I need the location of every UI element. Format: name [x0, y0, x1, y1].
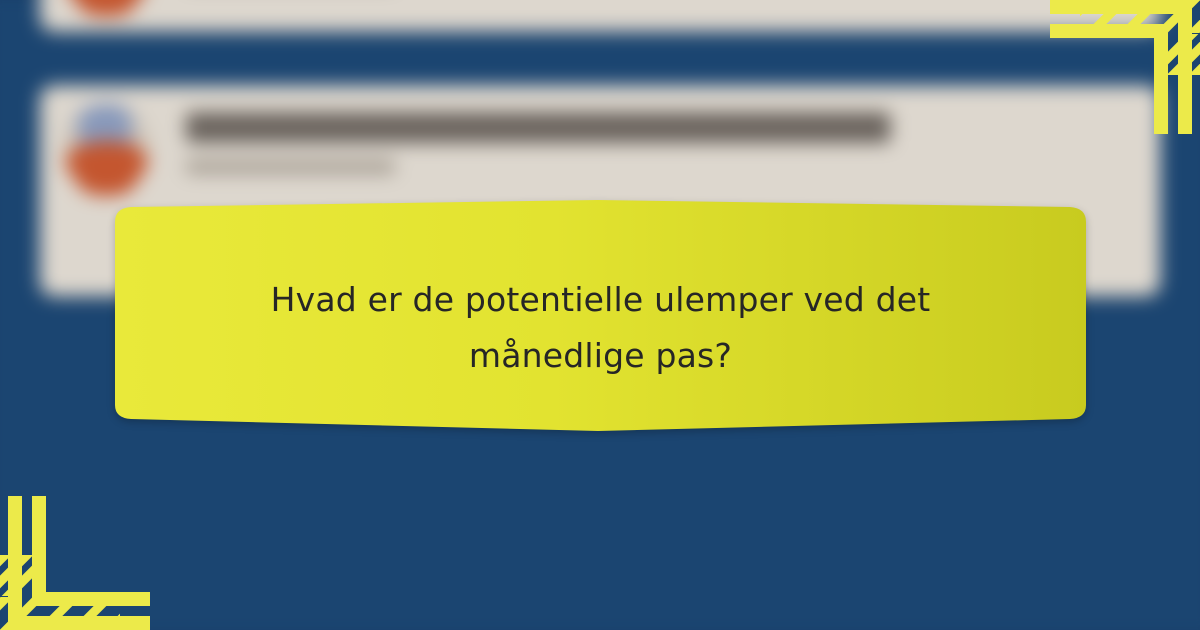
avatar	[62, 104, 151, 193]
card-heading	[186, 112, 890, 143]
question-banner: Hvad er de potentielle ulemper ved det m…	[101, 196, 1100, 436]
card-divider	[0, 36, 1200, 83]
card-subtext	[186, 159, 395, 173]
question-text-block: Hvad er de potentielle ulemper ved det m…	[101, 272, 1100, 384]
screenshot-canvas: Hvad er de potentielle ulemper ved det m…	[0, 0, 1200, 630]
avatar	[62, 0, 151, 13]
question-line-2: månedlige pas?	[161, 328, 1040, 384]
background-card-top	[40, 0, 1161, 32]
question-line-1: Hvad er de potentielle ulemper ved det	[161, 272, 1040, 328]
